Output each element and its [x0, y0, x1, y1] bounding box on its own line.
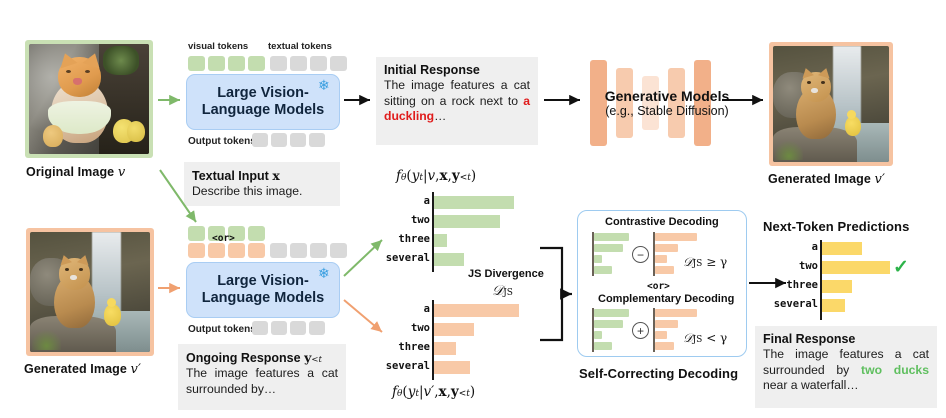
generated-image-right [773, 46, 889, 162]
minibar-orange [655, 233, 697, 241]
chart-label: three [772, 279, 818, 291]
ongoing-response-subscript: <t [311, 355, 322, 365]
minus-operator-icon: − [632, 246, 649, 263]
js-divergence-label: JS Divergence [468, 268, 544, 280]
lvlm-line1: Large Vision- [202, 85, 324, 102]
chart-label: three [384, 341, 430, 353]
initial-response-body: The image features a cat sitting on a ro… [384, 78, 530, 125]
initial-response-panel: Initial Response The image features a ca… [376, 57, 538, 145]
chart-row: a [822, 242, 940, 255]
visual-token [248, 226, 265, 241]
minibar-green [594, 244, 623, 252]
generated-image-card-right [769, 42, 893, 166]
textual-token [290, 243, 307, 258]
chart-label: several [372, 252, 430, 264]
output-tokens-row-bottom [252, 321, 325, 335]
visual-token [188, 56, 205, 71]
contrastive-decoding-label: Contrastive Decoding [605, 216, 719, 228]
textual-token [330, 243, 347, 258]
output-tokens-label-top: Output tokens: [188, 136, 259, 147]
chart-next-token: a two three several [820, 240, 940, 320]
chart-row: a [434, 196, 552, 209]
chart-label: several [760, 298, 818, 310]
lvlm-box-bottom[interactable]: Large Vision- Language Models [186, 262, 340, 318]
snowflake-icon: ❄ [318, 266, 330, 280]
chart-label: a [400, 303, 430, 315]
chart-bar [434, 361, 470, 374]
lvlm-line2: Language Models [202, 102, 324, 119]
chart-label: a [400, 195, 430, 207]
chart-label: several [372, 360, 430, 372]
textual-tokens-row-bottom [270, 243, 347, 258]
complementary-condition-text: < γ [706, 331, 727, 345]
visual-tokens-row-bottom-orange [188, 243, 265, 258]
minibar-orange [655, 244, 678, 252]
chart-row: two [434, 323, 552, 336]
chart-bar [434, 196, 514, 209]
chart-dist-original-title: fθ(yt|v,x,y<t) [396, 168, 476, 184]
textual-tokens-label: textual tokens [268, 41, 332, 52]
output-token [271, 321, 287, 335]
chart-bar [434, 304, 519, 317]
chart-bar [434, 215, 500, 228]
original-image-caption: Original Image v [26, 165, 125, 180]
chart-row: several [822, 299, 940, 312]
generated-image-caption-text: Generated Image [24, 362, 127, 376]
visual-token-generated [228, 243, 245, 258]
output-token [309, 321, 325, 335]
final-response-panel: Final Response The image features a cat … [755, 326, 937, 408]
output-token [290, 321, 306, 335]
chart-row: a [434, 304, 552, 317]
minibar-orange [655, 331, 667, 339]
original-image-card [25, 40, 153, 158]
original-image [29, 44, 149, 154]
chart-bar [822, 299, 845, 312]
generated-image-caption-right: Generated Image v′ [768, 172, 885, 187]
or-tag-decoding: <or> [647, 281, 670, 292]
minibar-green [594, 255, 602, 263]
generated-image [30, 232, 150, 352]
output-tokens-label-bottom: Output tokens: [188, 324, 259, 335]
visual-tokens-label: visual tokens [188, 41, 248, 52]
plus-operator-icon: + [632, 322, 649, 339]
chart-row: two [434, 215, 552, 228]
contrastive-condition: 𝒟JS ≥ γ [683, 255, 727, 270]
output-token [271, 133, 287, 147]
visual-token [188, 226, 205, 241]
generated-image-card [26, 228, 154, 356]
snowflake-icon: ❄ [318, 78, 330, 92]
generated-image-symbol: v′ [131, 362, 142, 377]
generated-image-symbol-right: v′ [875, 172, 886, 187]
textual-input-title: Textual Input x [192, 168, 332, 183]
generative-models-label: Generative Models (e.g., Stable Diffusio… [578, 88, 756, 118]
original-image-symbol: v [118, 165, 125, 180]
visual-token [248, 56, 265, 71]
minibar-green [594, 233, 629, 241]
textual-input-symbol: x [272, 168, 279, 183]
visual-tokens-row-top [188, 56, 265, 71]
initial-response-title: Initial Response [384, 63, 530, 77]
chart-row: three [434, 234, 552, 247]
chart-bar [434, 234, 447, 247]
chart-bar [434, 342, 456, 355]
original-image-caption-text: Original Image [26, 165, 114, 179]
chart-label: two [394, 214, 430, 226]
initial-response-body-post: … [434, 109, 446, 123]
chart-row: two [822, 261, 940, 274]
output-token [309, 133, 325, 147]
arrow-lvlm-to-orange-chart [344, 300, 382, 332]
ongoing-response-title: Ongoing Response y<t [186, 350, 338, 365]
ongoing-response-title-text: Ongoing Response [186, 351, 301, 365]
textual-token [330, 56, 347, 71]
generated-photo [30, 232, 150, 352]
output-token [252, 133, 268, 147]
visual-token-generated [208, 243, 225, 258]
minibar-green [594, 309, 629, 317]
complementary-condition: 𝒟JS < γ [683, 331, 727, 346]
generated-image-caption-right-text: Generated Image [768, 172, 871, 186]
minibar-orange [655, 255, 667, 263]
minibar-orange [655, 309, 697, 317]
contrastive-condition-text: ≥ γ [706, 255, 727, 269]
ongoing-response-panel: Ongoing Response y<t The image features … [178, 344, 346, 410]
textual-input-panel: Textual Input x Describe this image. [184, 162, 340, 206]
original-photo [29, 44, 149, 154]
self-correcting-decoding-title: Self-Correcting Decoding [579, 366, 738, 381]
chart-row: several [434, 253, 552, 266]
generated-photo-right [773, 46, 889, 162]
textual-token [310, 243, 327, 258]
chart-label: two [782, 260, 818, 272]
chart-bar [822, 242, 862, 255]
lvlm-line1: Large Vision- [202, 273, 324, 290]
final-response-title: Final Response [763, 332, 929, 346]
minibar-green [594, 331, 602, 339]
textual-input-body: Describe this image. [192, 184, 332, 200]
chart-row: several [434, 361, 552, 374]
generated-image-caption: Generated Image v′ [24, 362, 141, 377]
js-divergence-symbol: 𝒟JS [492, 283, 513, 299]
textual-input-title-text: Textual Input [192, 169, 269, 183]
chart-row: three [822, 280, 940, 293]
minibar-green [594, 266, 612, 274]
output-token [252, 321, 268, 335]
visual-token-generated [188, 243, 205, 258]
minibar-green [594, 342, 612, 350]
visual-token-generated [248, 243, 265, 258]
initial-response-body-pre: The image features a cat sitting on a ro… [384, 78, 530, 108]
visual-token [208, 56, 225, 71]
visual-token [228, 56, 245, 71]
chart-row: three [434, 342, 552, 355]
textual-token [270, 243, 287, 258]
chart-bar [822, 280, 852, 293]
generative-models-line2: (e.g., Stable Diffusion) [578, 104, 756, 118]
chart-bar [434, 253, 464, 266]
minibar-green [594, 320, 623, 328]
chart-dist-original: a two three several [432, 192, 552, 272]
chart-dist-generated-title: fθ(yt|v′,x,y<t) [392, 384, 475, 400]
textual-token [270, 56, 287, 71]
chart-dist-generated: a two three several [432, 300, 552, 380]
generative-models-line1: Generative Models [578, 88, 756, 104]
chart-label: three [384, 233, 430, 245]
chart-bar [434, 323, 474, 336]
complementary-decoding-label: Complementary Decoding [598, 293, 734, 305]
chart-bar [822, 261, 890, 274]
minibar-orange [655, 342, 674, 350]
ongoing-response-body: The image features a cat surrounded by… [186, 366, 338, 397]
minibar-orange [655, 266, 674, 274]
chart-label: a [788, 241, 818, 253]
chart-label: two [394, 322, 430, 334]
minibar-orange [655, 320, 678, 328]
output-tokens-row-top [252, 133, 325, 147]
textual-token [310, 56, 327, 71]
check-icon: ✓ [893, 258, 909, 277]
final-response-body-post: near a waterfall… [763, 378, 859, 392]
textual-tokens-row-top [270, 56, 347, 71]
lvlm-line2: Language Models [202, 290, 324, 307]
output-token [290, 133, 306, 147]
lvlm-box-top[interactable]: Large Vision- Language Models [186, 74, 340, 130]
final-response-body: The image features a cat surrounded by t… [763, 347, 929, 394]
textual-token [290, 56, 307, 71]
next-token-title: Next-Token Predictions [763, 219, 909, 234]
final-response-highlight: two ducks [861, 363, 929, 377]
